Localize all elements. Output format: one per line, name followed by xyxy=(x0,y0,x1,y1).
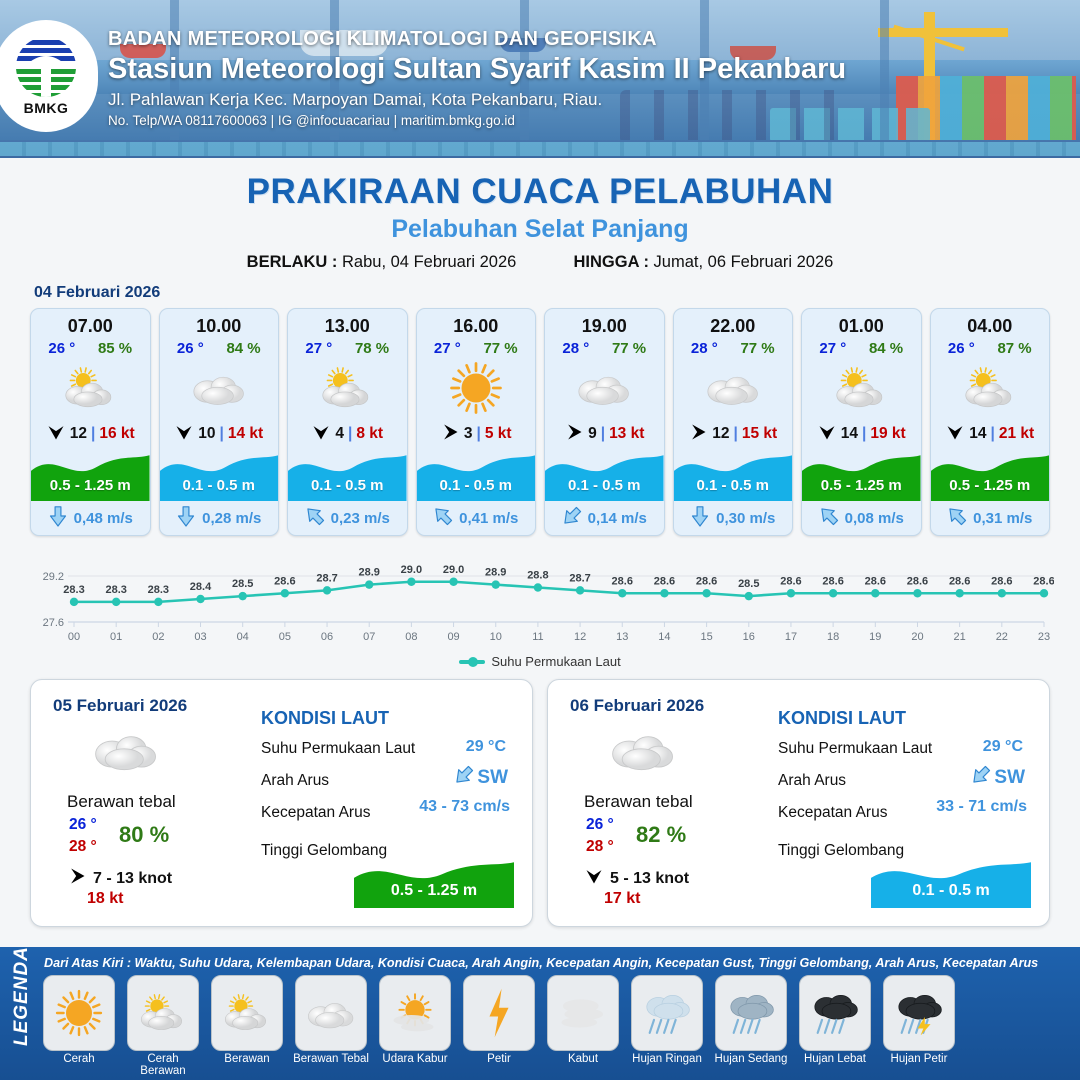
svg-text:27.6: 27.6 xyxy=(43,617,64,629)
svg-text:28.6: 28.6 xyxy=(274,575,295,587)
svg-text:03: 03 xyxy=(194,631,206,643)
humidity: 84 % xyxy=(226,340,260,357)
wind-speed: 3 xyxy=(464,425,473,443)
current-speed: 0,30 m/s xyxy=(716,510,775,527)
current-direction-icon xyxy=(454,764,474,791)
legend-icon-haze-icon xyxy=(379,975,451,1051)
weather-condition-icon xyxy=(545,357,664,419)
legend-icon-lightning-icon xyxy=(463,975,535,1051)
humidity: 87 % xyxy=(997,340,1031,357)
title-block: PRAKIRAAN CUACA PELABUHAN Pelabuhan Sela… xyxy=(0,172,1080,272)
legend-item-label: Petir xyxy=(460,1053,538,1065)
legend-item: Udara Kabur xyxy=(376,975,454,1077)
weather-condition-icon xyxy=(160,357,279,419)
legend-item: Cerah xyxy=(40,975,118,1077)
svg-text:18: 18 xyxy=(827,631,839,643)
legend-item: Kabut xyxy=(544,975,622,1077)
svg-text:28.6: 28.6 xyxy=(822,575,843,587)
legend-item: Hujan Lebat xyxy=(796,975,874,1077)
svg-text:28.3: 28.3 xyxy=(148,584,169,596)
wind-separator: | xyxy=(91,425,95,443)
svg-text:28.9: 28.9 xyxy=(359,567,380,579)
air-temperature: 27 ° xyxy=(434,340,461,357)
legend-items: Cerah Cerah Berawan Berawan Berawan Teba… xyxy=(40,975,1074,1077)
svg-text:28.6: 28.6 xyxy=(991,575,1012,587)
svg-text:09: 09 xyxy=(447,631,459,643)
summary-wind: 5 - 13 knot xyxy=(584,866,689,891)
forecast-time: 04.00 xyxy=(931,309,1050,337)
current-speed: 0,31 m/s xyxy=(973,510,1032,527)
wind-speed: 14 xyxy=(841,425,858,443)
current-info: 0,48 m/s xyxy=(31,501,150,535)
wind-info: 4 | 8 kt xyxy=(288,419,407,449)
svg-text:28.6: 28.6 xyxy=(949,575,970,587)
svg-text:21: 21 xyxy=(954,631,966,643)
legend-item-label: Cerah Berawan xyxy=(124,1053,202,1077)
humidity: 77 % xyxy=(483,340,517,357)
wind-separator: | xyxy=(601,425,605,443)
current-direction-value: SW xyxy=(994,767,1025,789)
bmkg-logo-text: BMKG xyxy=(24,100,69,116)
wind-info: 14 | 19 kt xyxy=(802,419,921,449)
sea-row-label: Kecepatan Arus xyxy=(778,804,887,822)
summary-wave-band: 0.5 - 1.25 m xyxy=(354,856,514,908)
bmkg-logo: BMKG xyxy=(0,20,98,132)
current-info: 0,30 m/s xyxy=(674,501,793,535)
legend-item-label: Cerah xyxy=(40,1053,118,1065)
forecast-card[interactable]: 22.00 28 ° 77 % 12 | 15 kt 0.1 - 0.5 m 0… xyxy=(673,308,794,536)
current-direction-icon xyxy=(433,505,453,531)
forecast-time: 01.00 xyxy=(802,309,921,337)
sea-row-label: Suhu Permukaan Laut xyxy=(778,740,932,758)
humidity: 85 % xyxy=(98,340,132,357)
svg-text:00: 00 xyxy=(68,631,80,643)
summary-gust: 17 kt xyxy=(604,890,640,908)
svg-text:15: 15 xyxy=(700,631,712,643)
station-name: Stasiun Meteorologi Sultan Syarif Kasim … xyxy=(108,53,846,86)
wave-height-value: 0.1 - 0.5 m xyxy=(674,477,793,494)
summary-wave-band: 0.1 - 0.5 m xyxy=(871,856,1031,908)
station-contact: No. Telp/WA 08117600063 | IG @infocuacar… xyxy=(108,113,846,128)
legend-item: Cerah Berawan xyxy=(124,975,202,1077)
wave-height-band: 0.5 - 1.25 m xyxy=(931,449,1050,501)
current-speed: 0,48 m/s xyxy=(74,510,133,527)
summary-condition: Berawan tebal xyxy=(584,792,693,812)
svg-text:07: 07 xyxy=(363,631,375,643)
svg-text:28.6: 28.6 xyxy=(654,575,675,587)
wave-height-band: 0.1 - 0.5 m xyxy=(674,449,793,501)
wave-height-value: 0.1 - 0.5 m xyxy=(417,477,536,494)
forecast-time: 07.00 xyxy=(31,309,150,337)
wind-separator: | xyxy=(734,425,738,443)
weather-condition-icon xyxy=(31,357,150,419)
svg-text:01: 01 xyxy=(110,631,122,643)
svg-text:28.3: 28.3 xyxy=(105,584,126,596)
current-speed: 0,08 m/s xyxy=(845,510,904,527)
legend-side-label: LEGENDA xyxy=(0,947,40,1080)
forecast-card[interactable]: 10.00 26 ° 84 % 10 | 14 kt 0.1 - 0.5 m 0… xyxy=(159,308,280,536)
current-speed: 0,14 m/s xyxy=(588,510,647,527)
wind-separator: | xyxy=(348,425,352,443)
legend-item-label: Hujan Sedang xyxy=(712,1053,790,1065)
wind-speed: 12 xyxy=(70,425,87,443)
forecast-time: 16.00 xyxy=(417,309,536,337)
wave-height-value: 0.5 - 1.25 m xyxy=(802,477,921,494)
wind-info: 12 | 15 kt xyxy=(674,419,793,449)
daily-summary-card[interactable]: 05 Februari 2026 Berawan tebal 26 ° 28 °… xyxy=(30,679,533,927)
humidity: 78 % xyxy=(355,340,389,357)
forecast-card[interactable]: 04.00 26 ° 87 % 14 | 21 kt 0.5 - 1.25 m … xyxy=(930,308,1051,536)
header-text-block: BADAN METEOROLOGI KLIMATOLOGI DAN GEOFIS… xyxy=(108,28,846,128)
svg-text:14: 14 xyxy=(658,631,670,643)
wind-speed: 10 xyxy=(198,425,215,443)
current-direction-icon xyxy=(690,505,710,531)
wind-direction-icon xyxy=(564,422,584,447)
weather-condition-icon xyxy=(288,357,407,419)
svg-text:28.6: 28.6 xyxy=(1033,575,1054,587)
wind-info: 14 | 21 kt xyxy=(931,419,1050,449)
wave-height-band: 0.5 - 1.25 m xyxy=(31,449,150,501)
svg-text:02: 02 xyxy=(152,631,164,643)
air-temperature: 26 ° xyxy=(177,340,204,357)
wind-separator: | xyxy=(220,425,224,443)
wind-direction-icon xyxy=(688,422,708,447)
svg-text:28.6: 28.6 xyxy=(696,575,717,587)
svg-text:04: 04 xyxy=(237,631,249,643)
forecast-time: 10.00 xyxy=(160,309,279,337)
sea-conditions-title: KONDISI LAUT xyxy=(778,708,906,729)
summary-wind-direction-icon xyxy=(584,866,604,891)
wind-direction-icon xyxy=(46,422,66,447)
summary-wind-direction-icon xyxy=(67,866,87,891)
air-temperature: 26 ° xyxy=(948,340,975,357)
current-direction-icon xyxy=(971,764,991,791)
wind-separator: | xyxy=(991,425,995,443)
wave-height-band: 0.1 - 0.5 m xyxy=(417,449,536,501)
wind-info: 12 | 16 kt xyxy=(31,419,150,449)
legend-item: Hujan Ringan xyxy=(628,975,706,1077)
bmkg-logo-mark xyxy=(15,36,77,98)
legend-icon-sun-cloud-icon xyxy=(127,975,199,1051)
svg-text:28.8: 28.8 xyxy=(527,570,548,582)
sst-value: 29 °C xyxy=(983,738,1023,756)
wave-height-value: 0.5 - 1.25 m xyxy=(31,477,150,494)
legend-icon-rain-storm-icon xyxy=(883,975,955,1051)
gust-speed: 13 kt xyxy=(609,425,644,443)
svg-text:06: 06 xyxy=(321,631,333,643)
sst-chart: 29.227.600010203040506070809101112131415… xyxy=(26,550,1054,650)
summary-humidity: 80 % xyxy=(119,822,169,848)
air-temperature: 28 ° xyxy=(691,340,718,357)
port-name: Pelabuhan Selat Panjang xyxy=(0,215,1080,244)
current-speed: 0,28 m/s xyxy=(202,510,261,527)
current-info: 0,23 m/s xyxy=(288,501,407,535)
summary-temp-max: 28 ° xyxy=(69,838,97,856)
current-direction-value: SW xyxy=(477,767,508,789)
weather-condition-icon xyxy=(417,357,536,419)
current-info: 0,14 m/s xyxy=(545,501,664,535)
legend-icon-rain-heavy-icon xyxy=(799,975,871,1051)
weather-condition-icon xyxy=(802,357,921,419)
legend-icon-sun-icon xyxy=(43,975,115,1051)
svg-text:23: 23 xyxy=(1038,631,1050,643)
chart-legend: Suhu Permukaan Laut xyxy=(0,654,1080,669)
humidity: 84 % xyxy=(869,340,903,357)
summary-date: 05 Februari 2026 xyxy=(53,696,187,716)
legend-item: Petir xyxy=(460,975,538,1077)
svg-text:28.6: 28.6 xyxy=(612,575,633,587)
summary-weather-icon xyxy=(91,728,161,776)
wind-direction-icon xyxy=(817,422,837,447)
svg-text:28.5: 28.5 xyxy=(738,578,759,590)
air-temperature: 27 ° xyxy=(305,340,332,357)
svg-text:28.6: 28.6 xyxy=(865,575,886,587)
svg-text:29.2: 29.2 xyxy=(43,571,64,583)
weather-condition-icon xyxy=(931,357,1050,419)
wind-separator: | xyxy=(862,425,866,443)
svg-text:28.6: 28.6 xyxy=(907,575,928,587)
summary-wind-range: 5 - 13 knot xyxy=(610,870,689,888)
current-direction-icon xyxy=(562,505,582,531)
gust-speed: 5 kt xyxy=(485,425,512,443)
gust-speed: 8 kt xyxy=(356,425,383,443)
sea-conditions-title: KONDISI LAUT xyxy=(261,708,389,729)
legend-item: Berawan xyxy=(208,975,286,1077)
humidity: 77 % xyxy=(612,340,646,357)
legend-item: Berawan Tebal xyxy=(292,975,370,1077)
valid-to-value: Jumat, 06 Februari 2026 xyxy=(654,253,834,271)
sea-row-label: Arah Arus xyxy=(778,772,846,790)
svg-text:11: 11 xyxy=(532,631,543,643)
summary-temp-max: 28 ° xyxy=(586,838,614,856)
svg-text:22: 22 xyxy=(996,631,1008,643)
summary-wave-value: 0.1 - 0.5 m xyxy=(871,882,1031,900)
valid-from-label: BERLAKU : xyxy=(247,253,338,271)
legend-item-label: Kabut xyxy=(544,1053,622,1065)
current-speed-value: 43 - 73 cm/s xyxy=(419,798,510,816)
summary-wind-range: 7 - 13 knot xyxy=(93,870,172,888)
summary-wave-value: 0.5 - 1.25 m xyxy=(354,882,514,900)
current-direction: SW xyxy=(971,764,1025,791)
page-header: BMKG BADAN METEOROLOGI KLIMATOLOGI DAN G… xyxy=(0,0,1080,158)
wind-direction-icon xyxy=(945,422,965,447)
current-info: 0,08 m/s xyxy=(802,501,921,535)
svg-text:16: 16 xyxy=(743,631,755,643)
current-direction-icon xyxy=(819,505,839,531)
wave-height-band: 0.1 - 0.5 m xyxy=(160,449,279,501)
humidity: 77 % xyxy=(740,340,774,357)
forecast-card[interactable]: 19.00 28 ° 77 % 9 | 13 kt 0.1 - 0.5 m 0,… xyxy=(544,308,665,536)
summary-condition: Berawan tebal xyxy=(67,792,176,812)
wave-height-value: 0.1 - 0.5 m xyxy=(288,477,407,494)
forecast-day-label: 04 Februari 2026 xyxy=(34,284,1080,302)
svg-text:29.0: 29.0 xyxy=(443,564,464,576)
validity-range: BERLAKU : Rabu, 04 Februari 2026 HINGGA … xyxy=(0,253,1080,272)
sea-row-label: Suhu Permukaan Laut xyxy=(261,740,415,758)
daily-summary-card[interactable]: 06 Februari 2026 Berawan tebal 26 ° 28 °… xyxy=(547,679,1050,927)
current-info: 0,28 m/s xyxy=(160,501,279,535)
wind-speed: 14 xyxy=(969,425,986,443)
forecast-card[interactable]: 01.00 27 ° 84 % 14 | 19 kt 0.5 - 1.25 m … xyxy=(801,308,922,536)
chart-legend-marker xyxy=(459,660,485,664)
current-info: 0,31 m/s xyxy=(931,501,1050,535)
wind-separator: | xyxy=(477,425,481,443)
forecast-card[interactable]: 07.00 26 ° 85 % 12 | 16 kt 0.5 - 1.25 m … xyxy=(30,308,151,536)
air-temperature: 27 ° xyxy=(819,340,846,357)
forecast-time: 22.00 xyxy=(674,309,793,337)
forecast-time: 19.00 xyxy=(545,309,664,337)
summary-wind: 7 - 13 knot xyxy=(67,866,172,891)
sea-row-label: Kecepatan Arus xyxy=(261,804,370,822)
gust-speed: 21 kt xyxy=(999,425,1034,443)
wind-info: 3 | 5 kt xyxy=(417,419,536,449)
summary-weather-icon xyxy=(608,728,678,776)
legend-item-label: Udara Kabur xyxy=(376,1053,454,1065)
summary-humidity: 82 % xyxy=(636,822,686,848)
current-direction-icon xyxy=(48,505,68,531)
svg-text:28.3: 28.3 xyxy=(63,584,84,596)
gust-speed: 16 kt xyxy=(99,425,134,443)
summary-gust: 18 kt xyxy=(87,890,123,908)
wind-direction-icon xyxy=(311,422,331,447)
air-temperature: 26 ° xyxy=(48,340,75,357)
svg-text:28.7: 28.7 xyxy=(569,572,590,584)
legend-item-label: Hujan Lebat xyxy=(796,1053,874,1065)
wind-direction-icon xyxy=(174,422,194,447)
legend-item-label: Hujan Ringan xyxy=(628,1053,706,1065)
svg-text:20: 20 xyxy=(911,631,923,643)
current-speed-value: 33 - 71 cm/s xyxy=(936,798,1027,816)
valid-to-label: HINGGA : xyxy=(573,253,648,271)
daily-summary-row: 05 Februari 2026 Berawan tebal 26 ° 28 °… xyxy=(0,669,1080,927)
station-address: Jl. Pahlawan Kerja Kec. Marpoyan Damai, … xyxy=(108,90,846,110)
wind-speed: 12 xyxy=(712,425,729,443)
wave-height-value: 0.1 - 0.5 m xyxy=(160,477,279,494)
current-info: 0,41 m/s xyxy=(417,501,536,535)
wave-height-band: 0.1 - 0.5 m xyxy=(545,449,664,501)
svg-text:28.5: 28.5 xyxy=(232,578,253,590)
hourly-forecast-row: 07.00 26 ° 85 % 12 | 16 kt 0.5 - 1.25 m … xyxy=(0,308,1080,536)
wind-info: 9 | 13 kt xyxy=(545,419,664,449)
legend-icon-sun-cloud-small-icon xyxy=(211,975,283,1051)
legend-item-label: Berawan Tebal xyxy=(292,1053,370,1065)
current-direction: SW xyxy=(454,764,508,791)
svg-text:28.4: 28.4 xyxy=(190,581,212,593)
current-direction-icon xyxy=(176,505,196,531)
wave-height-band: 0.5 - 1.25 m xyxy=(802,449,921,501)
svg-text:17: 17 xyxy=(785,631,797,643)
wave-height-band: 0.1 - 0.5 m xyxy=(288,449,407,501)
svg-text:10: 10 xyxy=(490,631,502,643)
forecast-time: 13.00 xyxy=(288,309,407,337)
chart-legend-label: Suhu Permukaan Laut xyxy=(491,654,620,669)
wind-direction-icon xyxy=(440,422,460,447)
legend-item-label: Berawan xyxy=(208,1053,286,1065)
sea-row-label: Arah Arus xyxy=(261,772,329,790)
summary-temp-min: 26 ° xyxy=(586,816,614,834)
legend-icon-rain-mod-icon xyxy=(715,975,787,1051)
current-direction-icon xyxy=(947,505,967,531)
wave-height-value: 0.1 - 0.5 m xyxy=(545,477,664,494)
legend-item-label: Hujan Petir xyxy=(880,1053,958,1065)
svg-text:29.0: 29.0 xyxy=(401,564,422,576)
legend-caption: Dari Atas Kiri : Waktu, Suhu Udara, Kele… xyxy=(40,951,1074,975)
summary-date: 06 Februari 2026 xyxy=(570,696,704,716)
svg-text:12: 12 xyxy=(574,631,586,643)
weather-condition-icon xyxy=(674,357,793,419)
current-speed: 0,41 m/s xyxy=(459,510,518,527)
forecast-card[interactable]: 13.00 27 ° 78 % 4 | 8 kt 0.1 - 0.5 m 0,2… xyxy=(287,308,408,536)
legend-icon-rain-light-icon xyxy=(631,975,703,1051)
header-tiles xyxy=(0,142,1080,156)
summary-temp-min: 26 ° xyxy=(69,816,97,834)
valid-from-value: Rabu, 04 Februari 2026 xyxy=(342,253,516,271)
legend-bar: LEGENDA Dari Atas Kiri : Waktu, Suhu Uda… xyxy=(0,947,1080,1080)
wind-speed: 9 xyxy=(588,425,597,443)
legend-icon-cloud-icon xyxy=(295,975,367,1051)
wind-speed: 4 xyxy=(335,425,344,443)
current-direction-icon xyxy=(305,505,325,531)
svg-text:08: 08 xyxy=(405,631,417,643)
gust-speed: 15 kt xyxy=(742,425,777,443)
current-speed: 0,23 m/s xyxy=(331,510,390,527)
svg-text:28.7: 28.7 xyxy=(316,572,337,584)
wave-height-value: 0.5 - 1.25 m xyxy=(931,477,1050,494)
page-title: PRAKIRAAN CUACA PELABUHAN xyxy=(0,172,1080,212)
agency-name: BADAN METEOROLOGI KLIMATOLOGI DAN GEOFIS… xyxy=(108,28,846,51)
svg-text:19: 19 xyxy=(869,631,881,643)
legend-icon-fog-icon xyxy=(547,975,619,1051)
svg-text:28.6: 28.6 xyxy=(780,575,801,587)
svg-text:28.9: 28.9 xyxy=(485,567,506,579)
gust-speed: 14 kt xyxy=(228,425,263,443)
legend-item: Hujan Sedang xyxy=(712,975,790,1077)
legend-item: Hujan Petir xyxy=(880,975,958,1077)
svg-text:05: 05 xyxy=(279,631,291,643)
sst-value: 29 °C xyxy=(466,738,506,756)
forecast-card[interactable]: 16.00 27 ° 77 % 3 | 5 kt 0.1 - 0.5 m 0,4… xyxy=(416,308,537,536)
wind-info: 10 | 14 kt xyxy=(160,419,279,449)
gust-speed: 19 kt xyxy=(870,425,905,443)
air-temperature: 28 ° xyxy=(562,340,589,357)
svg-text:13: 13 xyxy=(616,631,628,643)
